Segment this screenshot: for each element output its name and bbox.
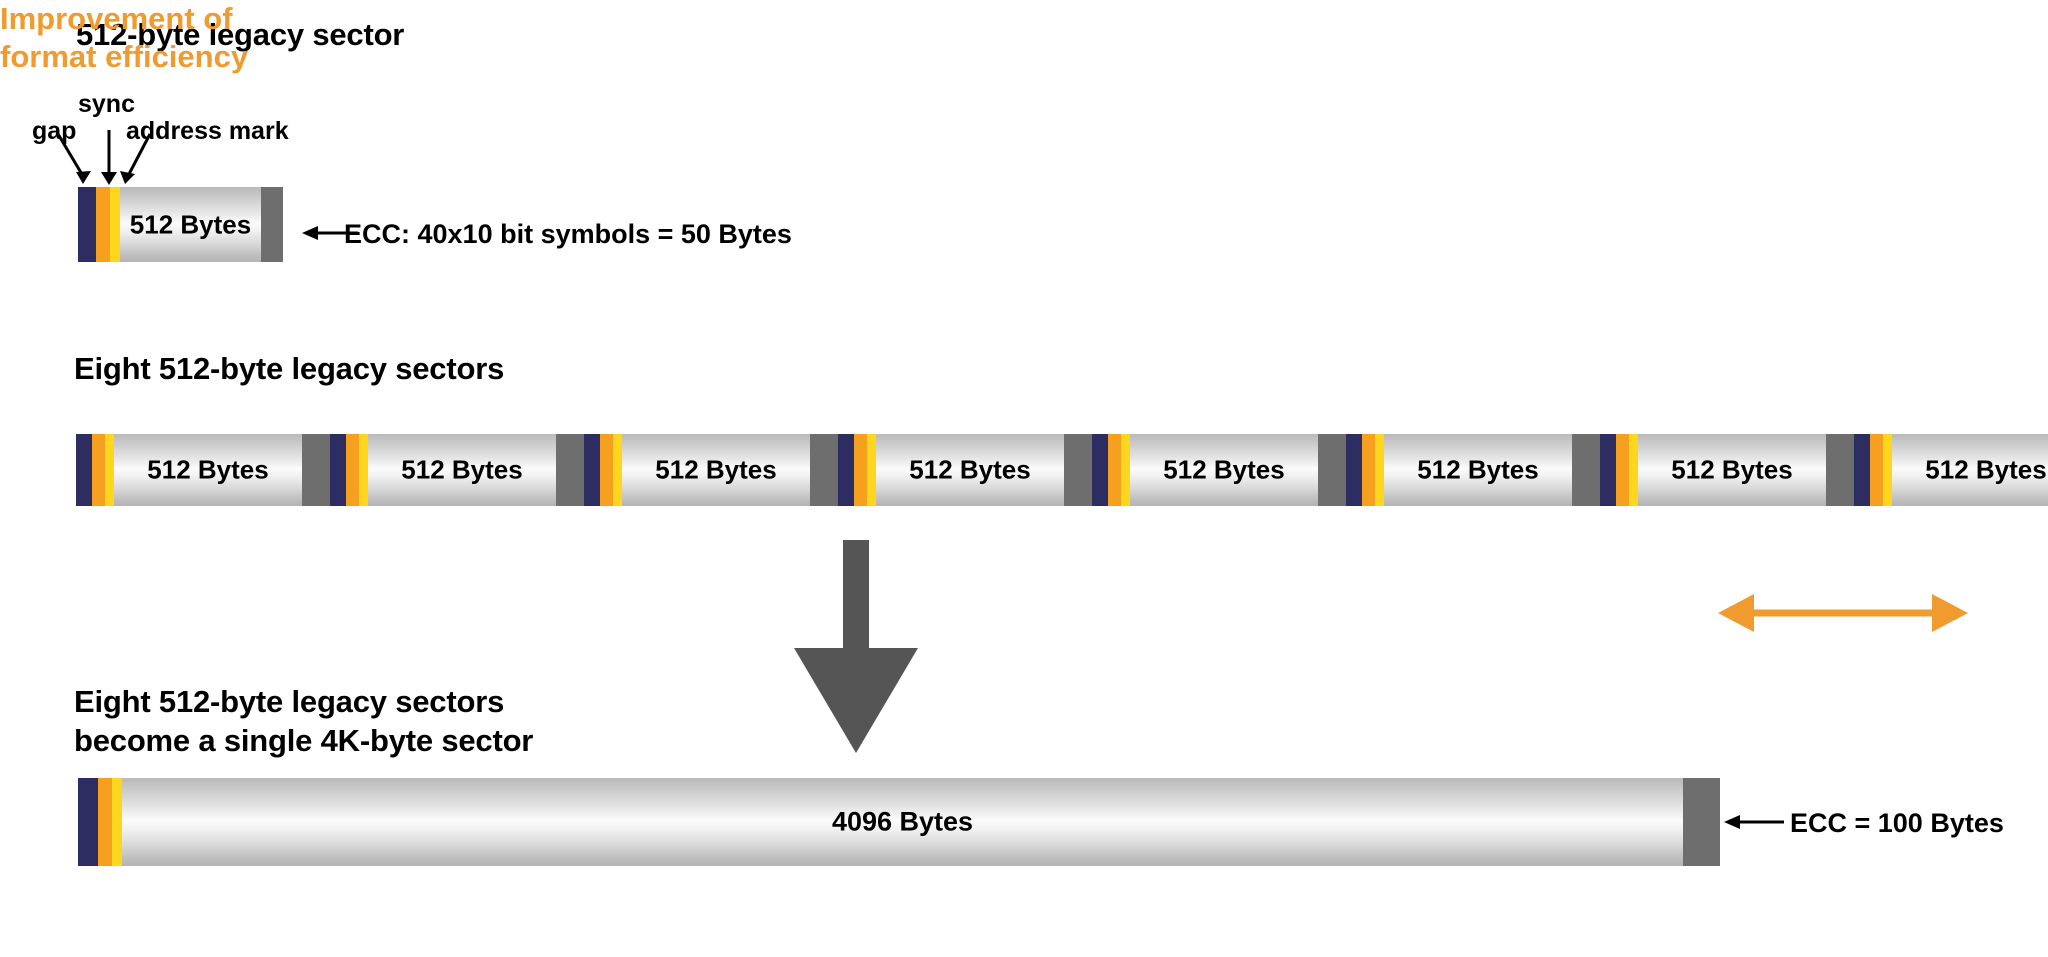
sector-data-label: 512 Bytes — [876, 455, 1064, 486]
sector-segment-gap — [330, 434, 346, 506]
sector-segment-sync — [98, 778, 112, 866]
sector-segment-address-mark — [1883, 434, 1892, 506]
sector-segment-address-mark — [1121, 434, 1130, 506]
sector-segment-data: 512 Bytes — [1892, 434, 2048, 506]
sector-segment-gap — [584, 434, 600, 506]
sector-segment-gap — [1854, 434, 1870, 506]
transformation-arrow-icon — [786, 540, 926, 755]
sector-segment-gap — [1092, 434, 1108, 506]
sector-segment-data: 512 Bytes — [114, 434, 302, 506]
sector-segment-data: 512 Bytes — [622, 434, 810, 506]
page-title-bottom: Eight 512-byte legacy sectors become a s… — [74, 683, 533, 761]
callout-leader-lines — [40, 130, 260, 192]
sector-segment-address-mark — [1375, 434, 1384, 506]
callout-label-sync: sync — [78, 90, 135, 119]
sector-segment-data: 4096 Bytes — [122, 778, 1683, 866]
sector-segment-sync — [1108, 434, 1121, 506]
sector-segment-address-mark — [112, 778, 122, 866]
sector-segment-data: 512 Bytes — [1638, 434, 1826, 506]
sector-segment-ecc — [1826, 434, 1854, 506]
sector-data-label: 512 Bytes — [1892, 455, 2048, 486]
sector-row-eight-512: 512 Bytes 512 Bytes 512 Bytes 512 Bytes — [76, 434, 1954, 506]
sector-segment-address-mark — [105, 434, 114, 506]
sector-segment-ecc — [302, 434, 330, 506]
improvement-caption: Improvement of format efficiency — [0, 0, 248, 76]
sector-segment-ecc — [261, 187, 283, 262]
sector-segment-ecc — [1064, 434, 1092, 506]
sector-segment-gap — [1346, 434, 1362, 506]
sector-segment-sync — [1616, 434, 1629, 506]
sector-data-label: 512 Bytes — [114, 455, 302, 486]
sector-data-label: 512 Bytes — [1638, 455, 1826, 486]
sector-segment-sync — [1870, 434, 1883, 506]
sector-segment-gap — [78, 187, 96, 262]
sector-segment-ecc — [810, 434, 838, 506]
sector-segment-address-mark — [359, 434, 368, 506]
sector-segment-ecc — [1318, 434, 1346, 506]
sector-segment-gap — [838, 434, 854, 506]
sector-segment-address-mark — [613, 434, 622, 506]
sector-segment-sync — [1362, 434, 1375, 506]
sector-segment-ecc — [1572, 434, 1600, 506]
sector-segment-address-mark — [867, 434, 876, 506]
sector-segment-address-mark — [1629, 434, 1638, 506]
sector-data-label: 512 Bytes — [368, 455, 556, 486]
sector-segment-sync — [854, 434, 867, 506]
ecc-note-top: ECC: 40x10 bit symbols = 50 Bytes — [344, 219, 792, 250]
improvement-double-arrow-icon — [1718, 592, 1968, 634]
sector-segment-address-mark — [110, 187, 120, 262]
sector-segment-sync — [346, 434, 359, 506]
page-title-middle: Eight 512-byte legacy sectors — [74, 350, 504, 389]
sector-segment-gap — [78, 778, 98, 866]
sector-segment-ecc — [556, 434, 584, 506]
sector-segment-data: 512 Bytes — [876, 434, 1064, 506]
sector-segment-data: 512 Bytes — [120, 187, 261, 262]
sector-data-label: 512 Bytes — [1130, 455, 1318, 486]
ecc-callout-arrow-bottom — [1722, 814, 1786, 830]
sector-data-label: 512 Bytes — [622, 455, 810, 486]
sector-segment-data: 512 Bytes — [1130, 434, 1318, 506]
sector-data-label: 512 Bytes — [1384, 455, 1572, 486]
diagram-canvas: 512-byte legacy sector gap sync address … — [0, 0, 2048, 957]
sector-segment-data: 512 Bytes — [368, 434, 556, 506]
ecc-note-bottom: ECC = 100 Bytes — [1790, 808, 2004, 839]
sector-segment-gap — [1600, 434, 1616, 506]
sector-bar-512-single: 512 Bytes — [78, 187, 300, 262]
sector-segment-sync — [92, 434, 105, 506]
sector-segment-sync — [96, 187, 110, 262]
sector-segment-gap — [76, 434, 92, 506]
sector-segment-ecc — [1683, 778, 1720, 866]
sector-data-label: 512 Bytes — [120, 209, 261, 240]
sector-segment-data: 512 Bytes — [1384, 434, 1572, 506]
sector-segment-sync — [600, 434, 613, 506]
sector-bar-4k: 4096 Bytes — [78, 778, 1720, 866]
sector-data-label: 4096 Bytes — [122, 807, 1683, 838]
